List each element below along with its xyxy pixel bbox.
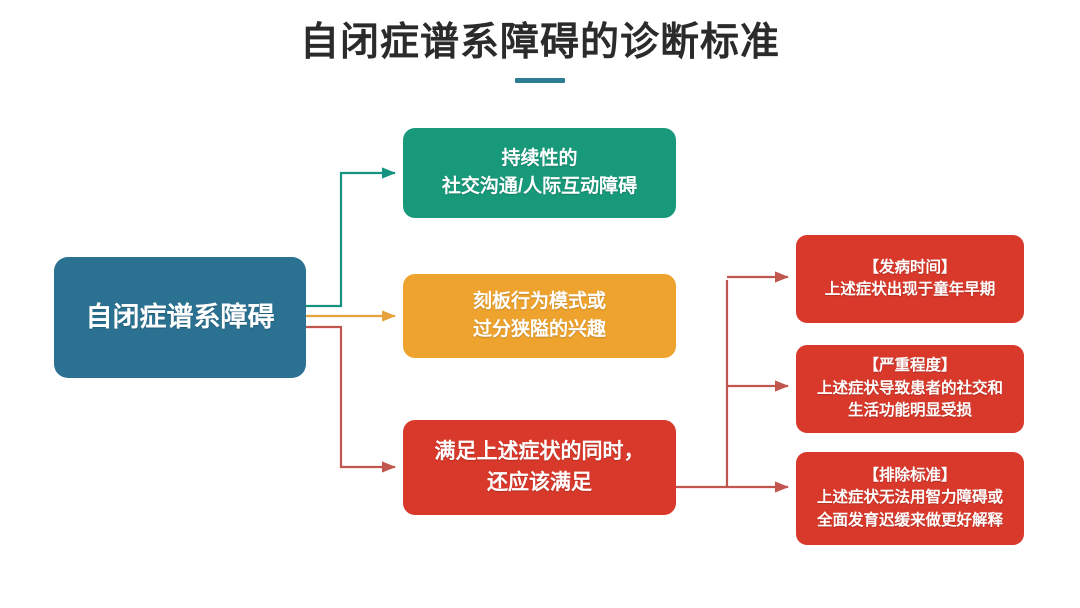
node-criterion-b-line-2: 过分狭隘的兴趣 <box>413 316 666 344</box>
node-root[interactable]: 自闭症谱系障碍 <box>54 257 306 378</box>
node-criterion-a-line-2: 社交沟通/人际互动障碍 <box>413 173 666 201</box>
node-detail-2-line-1: 上述症状导致患者的社交和 <box>806 378 1014 400</box>
node-detail-3-line-1: 上述症状无法用智力障碍或 <box>806 487 1014 509</box>
node-detail-3-heading: 【排除标准】 <box>806 465 1014 487</box>
node-detail-severity[interactable]: 【严重程度】 上述症状导致患者的社交和 生活功能明显受损 <box>796 345 1024 433</box>
node-criterion-a-line-1: 持续性的 <box>413 145 666 173</box>
node-root-label: 自闭症谱系障碍 <box>64 298 296 337</box>
node-criterion-b-line-1: 刻板行为模式或 <box>413 288 666 316</box>
title-underline <box>515 78 565 83</box>
node-detail-onset-time[interactable]: 【发病时间】 上述症状出现于童年早期 <box>796 235 1024 323</box>
node-detail-2-line-2: 生活功能明显受损 <box>806 400 1014 422</box>
node-detail-2-heading: 【严重程度】 <box>806 355 1014 377</box>
node-criterion-b[interactable]: 刻板行为模式或 过分狭隘的兴趣 <box>403 274 676 358</box>
wire-root-to-criterion-c <box>306 327 395 467</box>
page-title: 自闭症谱系障碍的诊断标准 <box>0 20 1080 67</box>
node-detail-1-heading: 【发病时间】 <box>806 257 1014 279</box>
node-criterion-c-line-1: 满足上述症状的同时， <box>413 437 666 467</box>
wire-root-to-criterion-a <box>306 173 395 306</box>
node-detail-1-line-1: 上述症状出现于童年早期 <box>806 279 1014 301</box>
node-detail-exclusion[interactable]: 【排除标准】 上述症状无法用智力障碍或 全面发育迟缓来做更好解释 <box>796 452 1024 545</box>
diagram-canvas: 自闭症谱系障碍的诊断标准 <box>0 0 1080 608</box>
node-criterion-c[interactable]: 满足上述症状的同时， 还应该满足 <box>403 420 676 515</box>
node-detail-3-line-2: 全面发育迟缓来做更好解释 <box>806 510 1014 532</box>
wire-criterion-c-trunk <box>676 280 727 487</box>
node-criterion-a[interactable]: 持续性的 社交沟通/人际互动障碍 <box>403 128 676 218</box>
node-criterion-c-line-2: 还应该满足 <box>413 468 666 498</box>
